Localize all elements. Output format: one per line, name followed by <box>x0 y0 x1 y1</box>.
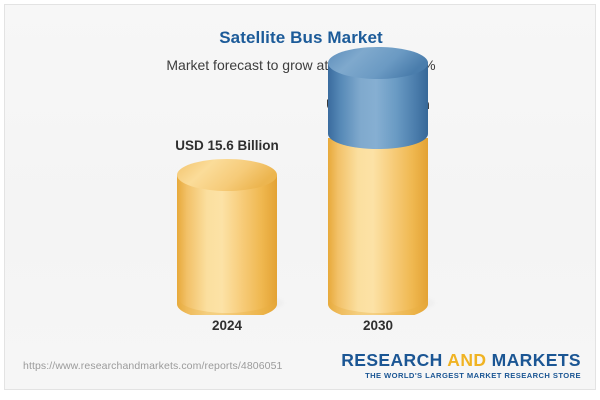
brand-wordmark: RESEARCH AND MARKETS <box>341 350 581 370</box>
infographic-card: Satellite Bus Market Market forecast to … <box>4 4 596 390</box>
bar-category-label-2030: 2030 <box>326 318 430 333</box>
cylinder-2024-svg <box>175 5 279 315</box>
brand-word-and: AND <box>447 350 486 370</box>
brand-word-markets: MARKETS <box>492 350 581 370</box>
cylinder-2030 <box>326 5 430 320</box>
brand-word-research: RESEARCH <box>341 350 442 370</box>
cylinder-2024 <box>175 5 279 320</box>
chart-plot-area: USD 15.6 Billion <box>5 5 596 345</box>
bar-category-label-2024: 2024 <box>175 318 279 333</box>
source-url[interactable]: https://www.researchandmarkets.com/repor… <box>23 360 282 372</box>
brand-tagline: THE WORLD'S LARGEST MARKET RESEARCH STOR… <box>341 370 581 381</box>
cylinder-2030-svg <box>326 5 430 315</box>
footer: https://www.researchandmarkets.com/repor… <box>5 345 596 390</box>
brand-logo[interactable]: RESEARCH AND MARKETS THE WORLD'S LARGEST… <box>341 350 581 381</box>
